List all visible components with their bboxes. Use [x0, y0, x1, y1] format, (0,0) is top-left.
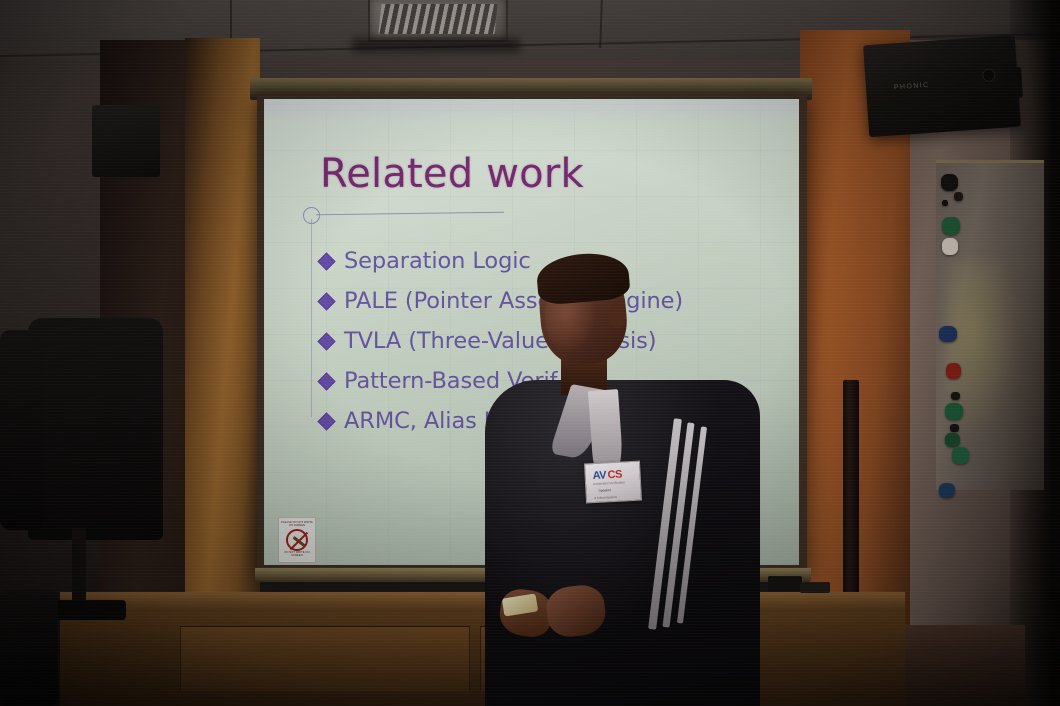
diamond-bullet-icon [317, 332, 335, 350]
chair-stem [72, 528, 86, 608]
magnet[interactable] [952, 447, 969, 464]
office-chair [0, 590, 58, 706]
magnet[interactable] [945, 433, 960, 447]
magnet[interactable] [950, 424, 959, 432]
magnet[interactable] [939, 483, 955, 498]
magnet[interactable] [939, 326, 957, 342]
desk-side-block [905, 625, 1025, 706]
magnet[interactable] [941, 174, 958, 191]
phonic-speaker: PHONIC [863, 35, 1021, 137]
no-pen-prohibition-icon [286, 529, 308, 551]
diamond-bullet-icon [317, 412, 335, 430]
diamond-bullet-icon [317, 292, 335, 310]
desk-panel [180, 626, 470, 692]
pen-icon [293, 536, 306, 547]
vent-shadow [352, 38, 520, 52]
badge-logo-part2: CS [607, 469, 622, 482]
badge-name: Speaker [598, 488, 611, 493]
slide-title: Related work [320, 151, 584, 197]
presenter: AV CS Automated Verification Speaker of … [465, 250, 785, 706]
office-chair [28, 318, 163, 540]
diamond-bullet-icon [317, 252, 335, 270]
sticker-top-label: PLEASE DO NOT WRITE ON SCREEN [281, 522, 313, 528]
air-vent-icon [368, 0, 508, 42]
sticker-bottom-label: DO NOT WRITE ON SCREEN [281, 552, 313, 558]
magnet[interactable] [945, 403, 963, 420]
diamond-bullet-icon [317, 372, 335, 390]
badge-subtitle: Automated Verification [593, 480, 625, 486]
decoration-vertical-rule [311, 219, 312, 417]
conference-badge: AV CS Automated Verification Speaker of … [584, 461, 642, 504]
badge-org: of Critical Systems [594, 495, 617, 500]
phonic-brand-label: PHONIC [894, 82, 930, 91]
left-speaker-unit [92, 105, 160, 177]
office-chair [0, 330, 44, 530]
av-equipment [800, 582, 830, 593]
magnet[interactable] [954, 192, 963, 201]
presenter-hair [535, 250, 631, 306]
badge-logo-part1: AV [592, 469, 606, 482]
magnet[interactable] [942, 217, 960, 235]
screen-frame-left [185, 38, 260, 636]
magnet[interactable] [942, 200, 948, 206]
speaker-knob [982, 68, 996, 82]
lecture-room-scene: PHONIC Related work Separation Logic [0, 0, 1060, 706]
presenter-torso [485, 380, 760, 706]
no-write-sticker: PLEASE DO NOT WRITE ON SCREEN DO NOT WRI… [278, 517, 316, 563]
magnet[interactable] [942, 238, 958, 255]
magnet[interactable] [946, 363, 961, 379]
decoration-horizontal-rule [316, 212, 504, 216]
magnet[interactable] [951, 392, 960, 400]
presenter-ear [608, 302, 626, 328]
